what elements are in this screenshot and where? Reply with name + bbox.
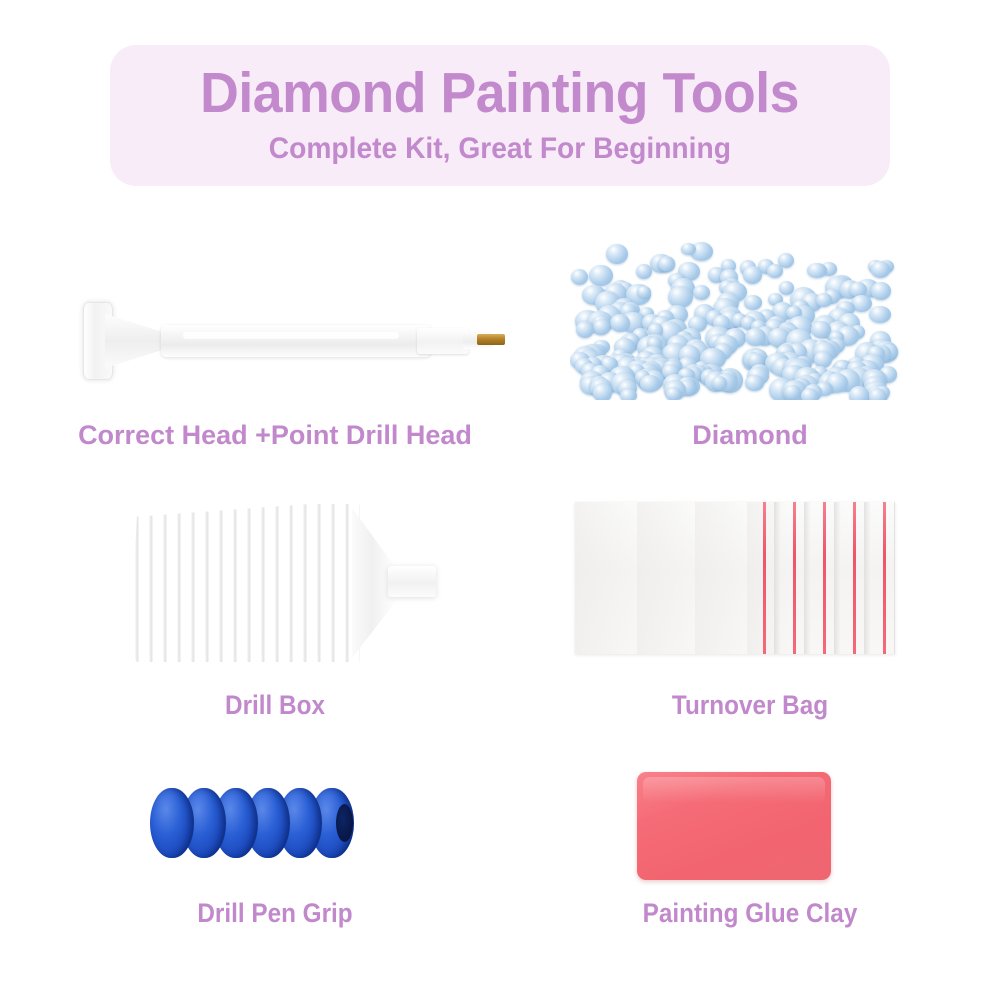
grip-bore-hole (336, 804, 353, 842)
drill-bead (869, 388, 886, 400)
header-banner: Diamond Painting Tools Complete Kit, Gre… (110, 45, 890, 186)
white-grooved-drill-tray-image (130, 498, 430, 668)
bag-crease (834, 502, 841, 654)
drill-bead (849, 386, 869, 400)
product-label-drill-box: Drill Box (46, 690, 505, 721)
drill-bead (745, 375, 765, 391)
tray-handle (388, 566, 436, 597)
blue-drill-beads-pile-image (570, 240, 900, 400)
bag-panel-shading (637, 502, 695, 654)
product-cell-correct-head-point-drill-head: Correct Head +Point Drill Head (20, 240, 530, 470)
drill-bead (807, 263, 827, 279)
drill-bead (869, 306, 890, 323)
product-cell-painting-glue-clay: Painting Glue Clay (520, 770, 980, 955)
drill-bead (576, 321, 594, 338)
bag-red-seal-line (793, 502, 796, 654)
drill-bead (606, 244, 628, 264)
pen-brass-point-drill-tip (477, 334, 505, 345)
drill-bead (744, 295, 763, 310)
bag-panel-shading (747, 502, 791, 654)
product-label-turnover-bag: Turnover Bag (543, 690, 957, 721)
tray-grooved-body (130, 504, 360, 662)
bag-red-seal-line (883, 502, 886, 654)
drill-bead (801, 388, 818, 400)
drill-bead (693, 285, 710, 300)
bag-crease (774, 502, 781, 654)
product-label-painting-glue-clay: Painting Glue Clay (543, 898, 957, 929)
bag-crease (804, 502, 811, 654)
drill-bead (636, 264, 652, 280)
drill-bead (571, 269, 588, 285)
drill-bead (640, 375, 660, 392)
drill-bead (593, 319, 610, 335)
page-title: Diamond Painting Tools (201, 65, 800, 122)
drill-bead (871, 282, 891, 300)
drill-bead (658, 257, 676, 271)
bag-red-seal-line (763, 502, 766, 654)
drill-bead (593, 383, 612, 400)
product-label-drill-pen-grip: Drill Pen Grip (46, 898, 505, 929)
product-cell-diamond: Diamond (520, 240, 980, 470)
bag-crease (894, 502, 895, 654)
pen-barrel (161, 325, 431, 357)
bag-crease (864, 502, 871, 654)
drill-bead (745, 328, 766, 346)
drill-bead (589, 265, 613, 286)
drill-bead (610, 314, 629, 332)
drill-bead (666, 387, 682, 400)
pen-collar (417, 328, 469, 354)
grip-ridge-segment (150, 788, 194, 858)
drill-bead (816, 293, 832, 307)
drill-bead (767, 264, 784, 279)
drill-bead (871, 261, 891, 277)
product-cell-turnover-bag: Turnover Bag (520, 490, 980, 735)
infographic-page: Diamond Painting Tools Complete Kit, Gre… (0, 0, 1000, 1000)
bag-panel-shading (695, 502, 747, 654)
bag-panel-shading (575, 502, 637, 654)
drill-bead (743, 266, 762, 284)
pen-correct-head-flare (105, 314, 167, 368)
blue-ribbed-rubber-grip-image (150, 788, 350, 860)
drill-bead (620, 389, 636, 400)
page-subtitle: Complete Kit, Great For Beginning (269, 132, 731, 166)
product-cell-drill-pen-grip: Drill Pen Grip (20, 770, 530, 955)
product-label-diamond: Diamond (520, 420, 980, 451)
bag-red-seal-line (853, 502, 856, 654)
bag-red-seal-line (823, 502, 826, 654)
product-label-correct-head-point-drill-head: Correct Head +Point Drill Head (20, 420, 530, 451)
clear-zip-bags-image (575, 502, 895, 654)
diamond-painting-pen-image (65, 270, 510, 380)
pink-glue-clay-block-image (637, 772, 831, 880)
product-cell-drill-box: Drill Box (20, 490, 530, 735)
